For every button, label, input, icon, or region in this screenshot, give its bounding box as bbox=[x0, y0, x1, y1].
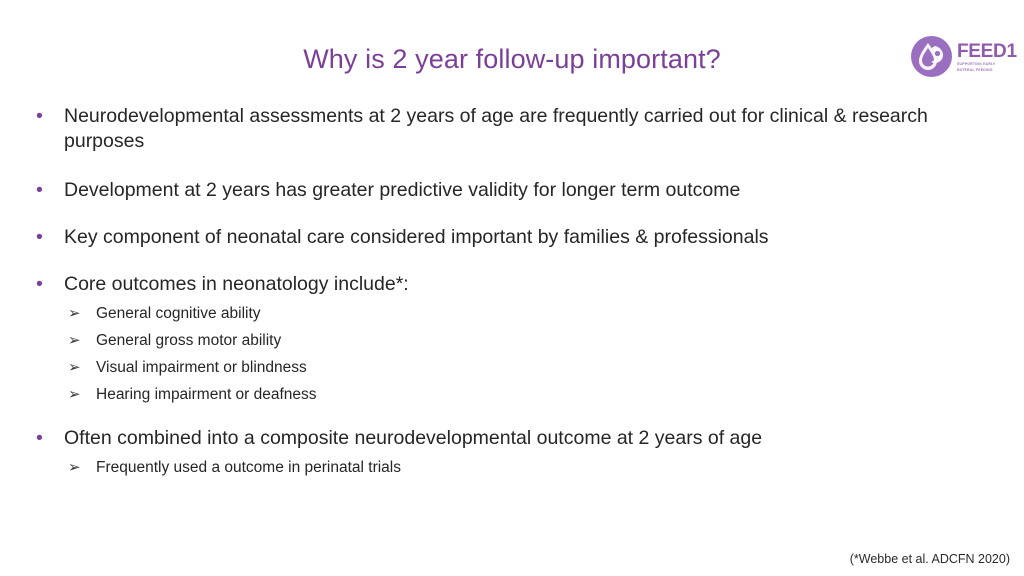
slide-canvas: Why is 2 year follow-up important? FEED1… bbox=[0, 0, 1024, 576]
sub-bullet-text: Hearing impairment or deafness bbox=[96, 386, 317, 403]
page-title: Why is 2 year follow-up important? bbox=[0, 42, 1024, 76]
bullet-item: • Core outcomes in neonatology include*: bbox=[28, 272, 1003, 297]
spacer bbox=[28, 250, 1003, 272]
sub-bullet-item: ➢ Frequently used a outcome in perinatal… bbox=[28, 454, 1003, 481]
spacer bbox=[28, 154, 1003, 178]
bullet-text: Often combined into a composite neurodev… bbox=[64, 427, 762, 449]
logo-subtitle-line1: SUPPORTING EARLY bbox=[957, 62, 1017, 67]
bullet-text: Development at 2 years has greater predi… bbox=[64, 179, 740, 201]
arrow-bullet-icon: ➢ bbox=[68, 300, 81, 327]
logo-subtitle-line2: ENTERAL FEEDING bbox=[957, 68, 1017, 73]
bullet-marker-dot: • bbox=[36, 104, 43, 129]
citation-footnote: (*Webbe et al. ADCFN 2020) bbox=[850, 551, 1010, 567]
sub-bullet-item: ➢ General cognitive ability bbox=[28, 300, 1003, 327]
arrow-bullet-icon: ➢ bbox=[68, 454, 81, 481]
bullet-marker-dot: • bbox=[36, 426, 43, 451]
sub-bullet-text: Frequently used a outcome in perinatal t… bbox=[96, 459, 401, 476]
arrow-bullet-icon: ➢ bbox=[68, 381, 81, 408]
bullet-item: • Neurodevelopmental assessments at 2 ye… bbox=[28, 104, 1003, 154]
bullet-list: • Neurodevelopmental assessments at 2 ye… bbox=[28, 104, 1003, 481]
sub-bullet-item: ➢ General gross motor ability bbox=[28, 327, 1003, 354]
sub-bullet-list: ➢ Frequently used a outcome in perinatal… bbox=[28, 454, 1003, 481]
logo-wordmark: FEED1 bbox=[957, 42, 1017, 61]
bullet-item: • Often combined into a composite neurod… bbox=[28, 426, 1003, 451]
feed1-droplet-icon bbox=[911, 36, 952, 77]
arrow-bullet-icon: ➢ bbox=[68, 327, 81, 354]
sub-bullet-text: General cognitive ability bbox=[96, 305, 261, 322]
bullet-text: Key component of neonatal care considere… bbox=[64, 226, 769, 248]
bullet-marker-dot: • bbox=[36, 272, 43, 297]
logo-text-block: FEED1 SUPPORTING EARLY ENTERAL FEEDING bbox=[957, 40, 1017, 72]
arrow-bullet-icon: ➢ bbox=[68, 354, 81, 381]
feed1-logo: FEED1 SUPPORTING EARLY ENTERAL FEEDING bbox=[911, 33, 1011, 79]
bullet-marker-dot: • bbox=[36, 225, 43, 250]
sub-bullet-item: ➢ Visual impairment or blindness bbox=[28, 354, 1003, 381]
spacer bbox=[28, 203, 1003, 225]
sub-bullet-item: ➢ Hearing impairment or deafness bbox=[28, 381, 1003, 408]
bullet-marker-dot: • bbox=[36, 178, 43, 203]
bullet-text: Core outcomes in neonatology include*: bbox=[64, 273, 409, 295]
bullet-text: Neurodevelopmental assessments at 2 year… bbox=[64, 105, 928, 152]
bullet-item: • Key component of neonatal care conside… bbox=[28, 225, 1003, 250]
spacer bbox=[28, 408, 1003, 426]
sub-bullet-text: General gross motor ability bbox=[96, 332, 281, 349]
bullet-item: • Development at 2 years has greater pre… bbox=[28, 178, 1003, 203]
sub-bullet-list: ➢ General cognitive ability ➢ General gr… bbox=[28, 300, 1003, 408]
sub-bullet-text: Visual impairment or blindness bbox=[96, 359, 307, 376]
